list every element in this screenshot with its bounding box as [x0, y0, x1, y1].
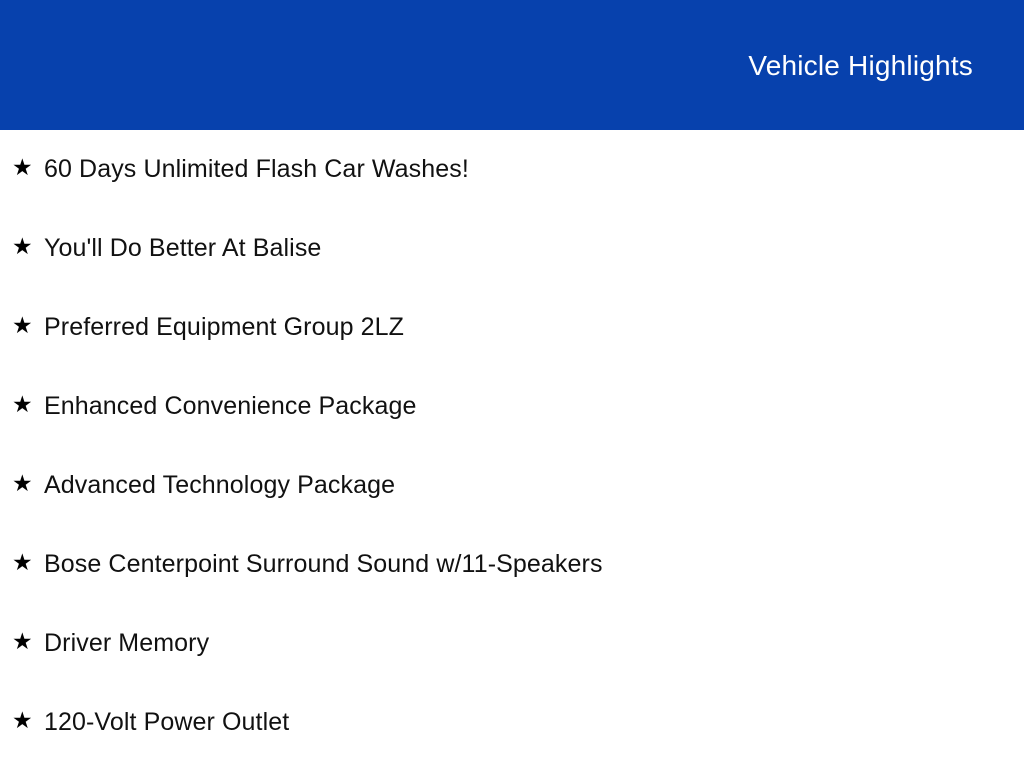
star-bullet-icon: ★: [12, 234, 36, 258]
star-bullet-icon: ★: [12, 392, 36, 416]
highlight-label: Bose Centerpoint Surround Sound w/11-Spe…: [44, 525, 1024, 579]
list-item: ★ Advanced Technology Package: [0, 446, 1024, 525]
star-bullet-icon: ★: [12, 313, 36, 337]
list-item: ★ Bose Centerpoint Surround Sound w/11-S…: [0, 525, 1024, 604]
page-title: Vehicle Highlights: [748, 50, 973, 82]
list-item: ★ 120-Volt Power Outlet: [0, 683, 1024, 762]
star-bullet-icon: ★: [12, 155, 36, 179]
highlight-label: You'll Do Better At Balise: [44, 209, 1024, 263]
list-item: ★ Enhanced Convenience Package: [0, 367, 1024, 446]
highlight-label: 60 Days Unlimited Flash Car Washes!: [44, 130, 1024, 184]
highlight-label: Advanced Technology Package: [44, 446, 1024, 500]
star-bullet-icon: ★: [12, 550, 36, 574]
highlight-label: Preferred Equipment Group 2LZ: [44, 288, 1024, 342]
vehicle-highlights-page: Vehicle Highlights ★ 60 Days Unlimited F…: [0, 0, 1024, 768]
list-item: ★ Driver Memory: [0, 604, 1024, 683]
star-bullet-icon: ★: [12, 471, 36, 495]
highlight-label: 120-Volt Power Outlet: [44, 683, 1024, 737]
list-item: ★ You'll Do Better At Balise: [0, 209, 1024, 288]
highlight-label: Enhanced Convenience Package: [44, 367, 1024, 421]
vehicle-highlights-list: ★ 60 Days Unlimited Flash Car Washes! ★ …: [0, 130, 1024, 762]
header-banner: Vehicle Highlights: [0, 0, 1024, 130]
highlight-label: Driver Memory: [44, 604, 1024, 658]
star-bullet-icon: ★: [12, 629, 36, 653]
star-bullet-icon: ★: [12, 708, 36, 732]
list-item: ★ 60 Days Unlimited Flash Car Washes!: [0, 130, 1024, 209]
list-item: ★ Preferred Equipment Group 2LZ: [0, 288, 1024, 367]
